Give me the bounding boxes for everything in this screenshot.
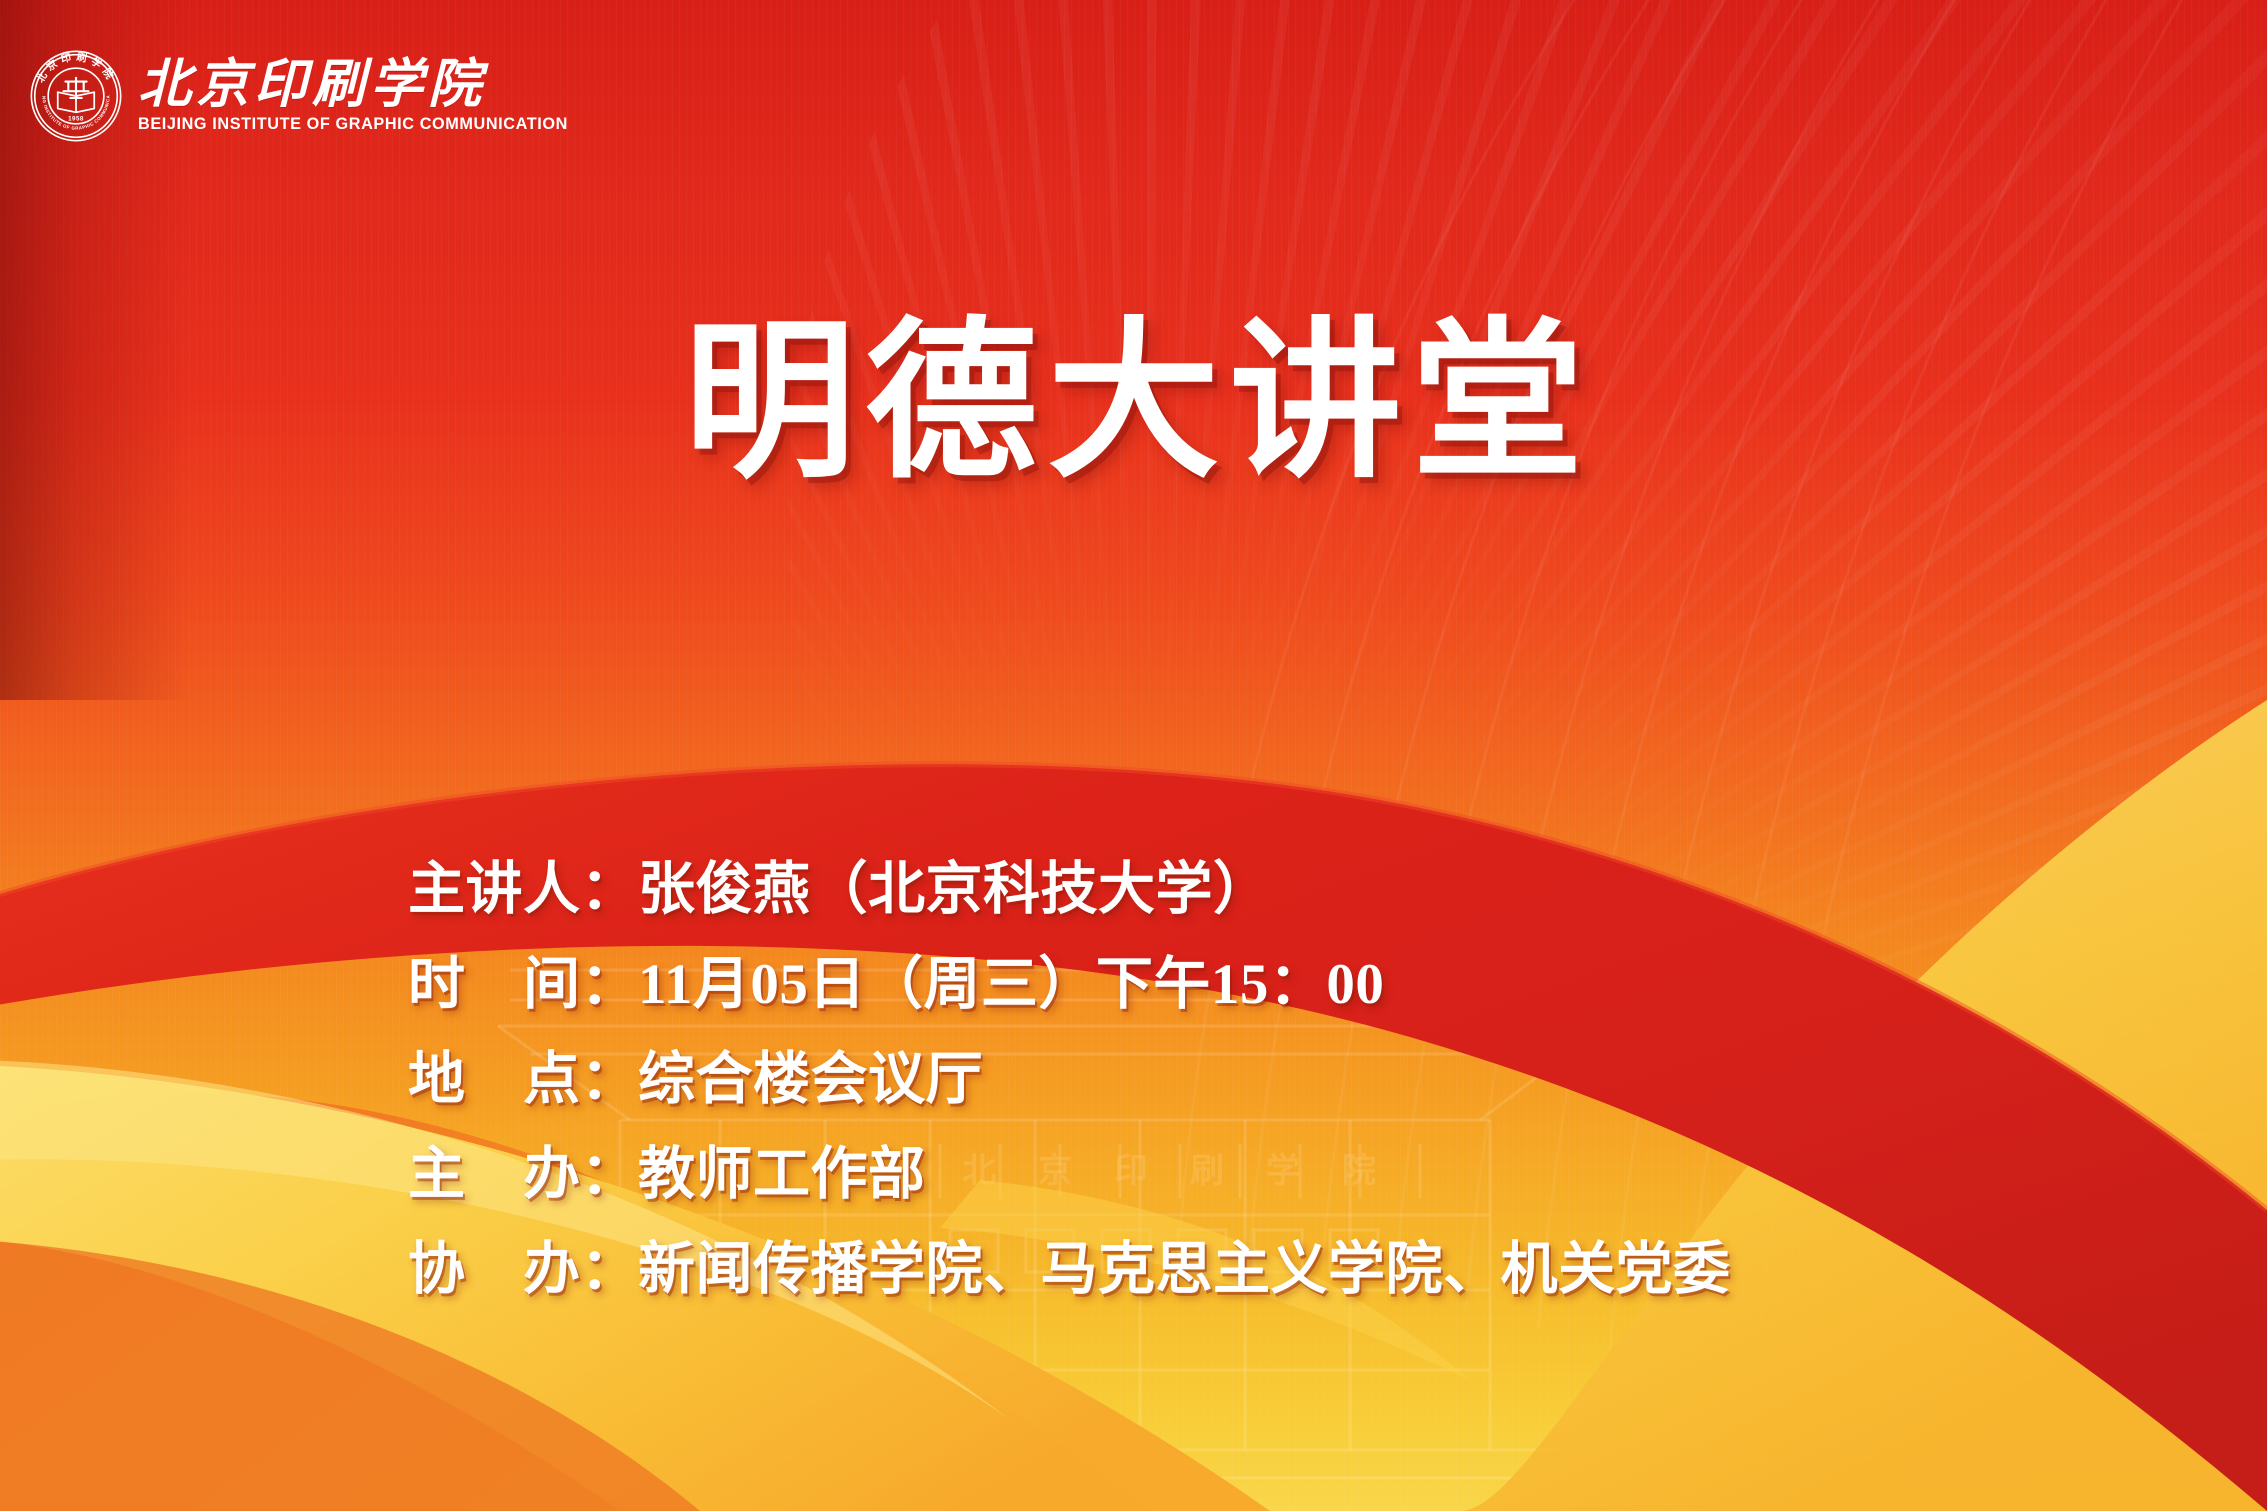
institution-logo: 北京印刷学院 BEIJING INSTITUTE OF GRAPHIC COMM… [28, 48, 574, 144]
detail-value-coorganizer: 新闻传播学院、马克思主义学院、机关党委 [638, 1222, 1731, 1317]
detail-row-venue: 地 点：综合楼会议厅 [408, 1032, 1731, 1127]
logo-name-en: BEIJING INSTITUTE OF GRAPHIC COMMUNICATI… [138, 115, 568, 134]
detail-row-time: 时 间：11月05日（周三）下午15：00 [408, 937, 1731, 1032]
page-title: 明德大讲堂 [0, 318, 2267, 490]
detail-label-organizer: 主 办： [408, 1127, 638, 1222]
detail-label-venue: 地 点： [408, 1032, 638, 1127]
detail-value-venue: 综合楼会议厅 [638, 1032, 983, 1127]
detail-label-time: 时 间： [408, 937, 638, 1032]
svg-text:1958: 1958 [68, 115, 84, 122]
detail-label-speaker: 主讲人： [408, 842, 638, 937]
logo-wordmark: 北京印刷学院 BEIJING INSTITUTE OF GRAPHIC COMM… [138, 58, 574, 135]
event-details: 主讲人：张俊燕（北京科技大学） 时 间：11月05日（周三）下午15：00 地 … [408, 842, 1731, 1317]
detail-row-organizer: 主 办：教师工作部 [408, 1127, 1731, 1222]
logo-name-cn: 北京印刷学院 [138, 58, 574, 113]
detail-value-speaker: 张俊燕（北京科技大学） [638, 842, 1271, 937]
detail-label-coorganizer: 协 办： [408, 1222, 638, 1317]
detail-value-time: 11月05日（周三）下午15：00 [638, 937, 1384, 1032]
university-seal-icon: 北京印刷学院 BEIJING INSTITUTE OF GRAPHIC COMM… [28, 48, 124, 144]
poster-canvas: 北 京 印 刷 学 院 [0, 0, 2267, 1511]
detail-row-coorganizer: 协 办：新闻传播学院、马克思主义学院、机关党委 [408, 1222, 1731, 1317]
detail-row-speaker: 主讲人：张俊燕（北京科技大学） [408, 842, 1731, 937]
detail-value-organizer: 教师工作部 [638, 1127, 926, 1222]
